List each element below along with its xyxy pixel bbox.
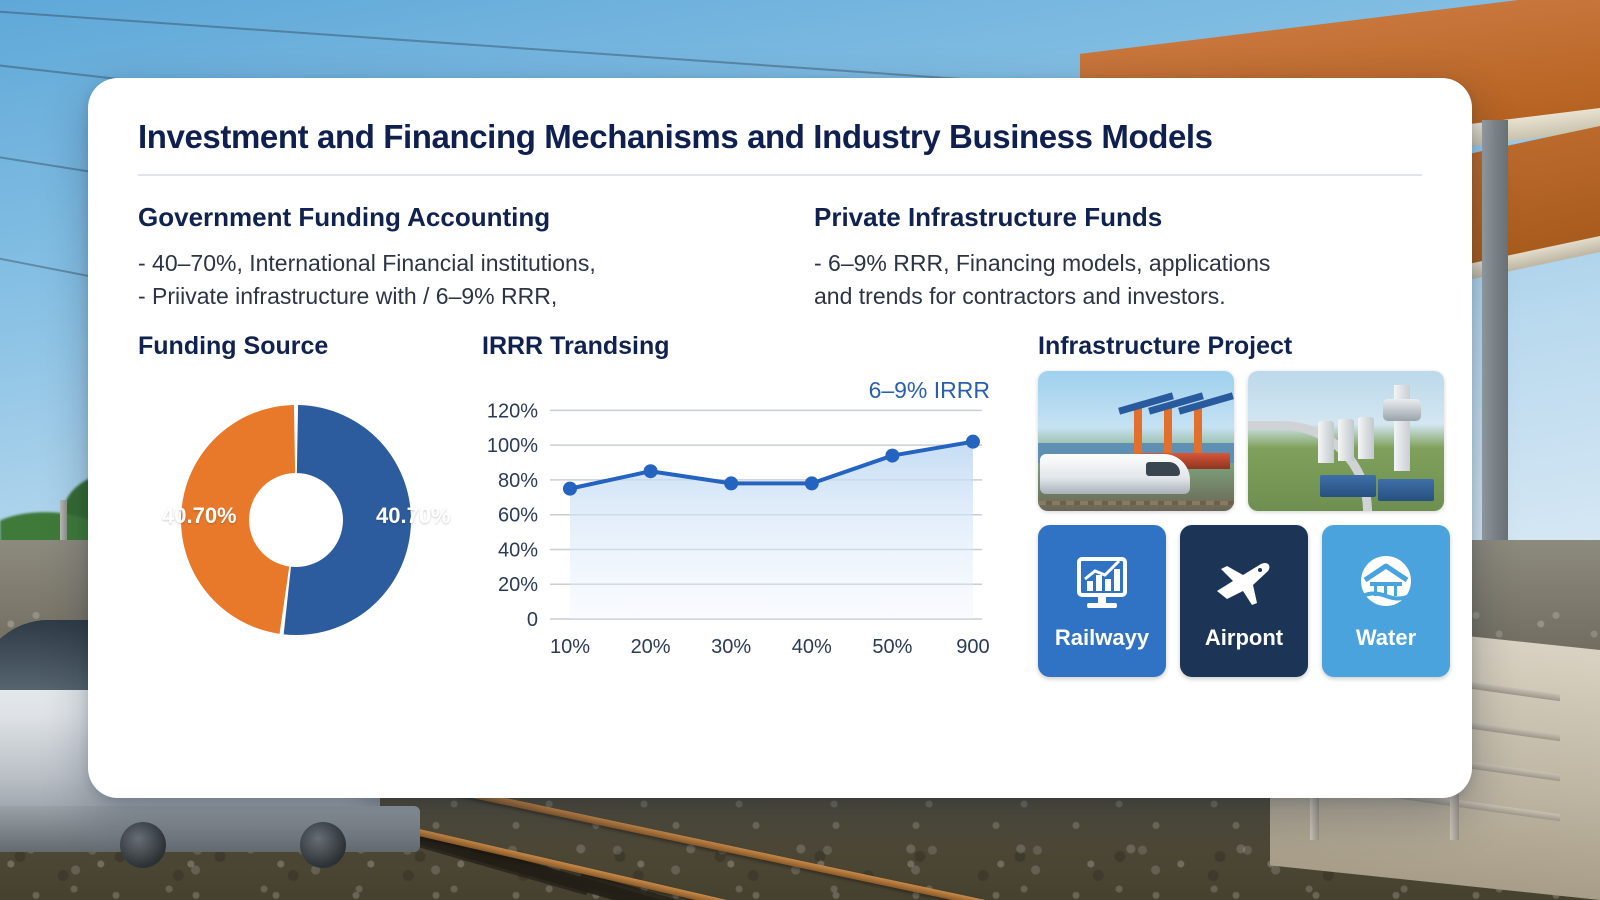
- panel-title: Infrastructure Project: [1038, 332, 1450, 361]
- section-line: - 40–70%, International Financial instit…: [138, 247, 744, 280]
- panels-row: Funding Source 40.70% 40.70% IRRR Trands…: [88, 314, 1472, 677]
- svg-text:0: 0: [527, 609, 538, 631]
- chart-monitor-icon: [1073, 551, 1131, 613]
- panel-title: Funding Source: [138, 332, 458, 361]
- svg-text:60%: 60%: [498, 504, 538, 526]
- thumbnail-high-speed-rail-port[interactable]: [1038, 371, 1234, 511]
- tile-label: Railwayy: [1055, 625, 1149, 651]
- svg-text:900: 900: [956, 636, 989, 658]
- section-government-funding: Government Funding Accounting - 40–70%, …: [138, 202, 780, 314]
- line-chart: 120%100%80%60%40%20%0 10%20%30%40%50%900…: [482, 371, 1002, 671]
- svg-text:40%: 40%: [498, 539, 538, 561]
- donut-chart: 40.70% 40.70%: [138, 371, 458, 661]
- funding-source-panel: Funding Source 40.70% 40.70%: [138, 332, 458, 677]
- svg-text:50%: 50%: [872, 636, 912, 658]
- svg-text:80%: 80%: [498, 470, 538, 492]
- svg-text:40%: 40%: [792, 636, 832, 658]
- chart-annotation: 6–9% IRRR: [869, 377, 990, 404]
- line-chart-svg: 120%100%80%60%40%20%0 10%20%30%40%50%900: [482, 371, 1002, 671]
- panel-title: IRRR Trandsing: [482, 332, 998, 361]
- thumbnail-airport-tower-industrial[interactable]: [1248, 371, 1444, 511]
- train-skirt: [0, 806, 420, 852]
- svg-text:120%: 120%: [487, 400, 538, 422]
- tile-water[interactable]: Water: [1322, 525, 1450, 677]
- content-card: Investment and Financing Mechanisms and …: [88, 78, 1472, 798]
- section-line: - 6–9% RRR, Financing models, applicatio…: [814, 247, 1422, 280]
- tile-railway[interactable]: Railwayy: [1038, 525, 1166, 677]
- section-line: - Priivate infrastructure with / 6–9% RR…: [138, 280, 744, 313]
- svg-text:10%: 10%: [550, 636, 590, 658]
- train-wheel: [300, 822, 346, 868]
- donut-label-orange: 40.70%: [162, 503, 237, 529]
- donut-label-blue: 40.70%: [376, 503, 451, 529]
- airplane-icon: [1213, 551, 1275, 613]
- tile-label: Water: [1356, 625, 1416, 651]
- svg-text:20%: 20%: [631, 636, 671, 658]
- text-columns: Government Funding Accounting - 40–70%, …: [88, 176, 1472, 314]
- bridge-circle-icon: [1357, 551, 1415, 613]
- category-tiles: Railwayy Airpont: [1038, 525, 1450, 677]
- section-heading: Private Infrastructure Funds: [814, 202, 1422, 233]
- page-title: Investment and Financing Mechanisms and …: [88, 78, 1472, 156]
- section-heading: Government Funding Accounting: [138, 202, 744, 233]
- tile-airport[interactable]: Airpont: [1180, 525, 1308, 677]
- project-thumbnails: [1038, 371, 1450, 511]
- svg-text:20%: 20%: [498, 574, 538, 596]
- train-wheel: [120, 822, 166, 868]
- svg-text:30%: 30%: [711, 636, 751, 658]
- irrr-trending-panel: IRRR Trandsing 120%100%80%60%40%20%0 10%…: [458, 332, 998, 677]
- section-private-funds: Private Infrastructure Funds - 6–9% RRR,…: [780, 202, 1422, 314]
- section-line: and trends for contractors and investors…: [814, 280, 1422, 313]
- tile-label: Airpont: [1205, 625, 1283, 651]
- svg-text:100%: 100%: [487, 435, 538, 457]
- infrastructure-project-panel: Infrastructure Project: [998, 332, 1450, 677]
